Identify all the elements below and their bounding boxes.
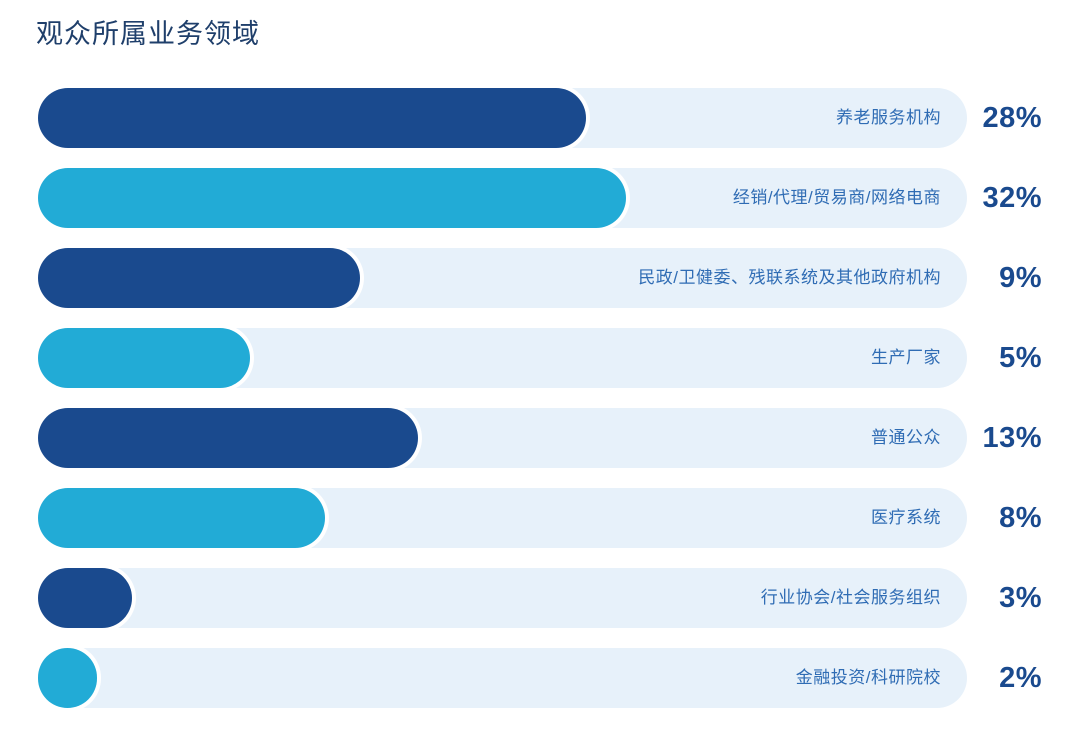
bar-row: 医疗系统 8% (0, 488, 1080, 568)
bar-fill (38, 488, 325, 548)
bar-row: 经销/代理/贸易商/网络电商 32% (0, 168, 1080, 248)
bar-fill (38, 328, 250, 388)
bar-value-label: 9% (999, 248, 1042, 308)
bar-value-label: 13% (982, 408, 1042, 468)
bar-value-label: 8% (999, 488, 1042, 548)
bar-row: 养老服务机构 28% (0, 88, 1080, 168)
bar-row: 金融投资/科研院校 2% (0, 648, 1080, 728)
bar-category-label: 生产厂家 (871, 328, 941, 388)
bar-category-label: 行业协会/社会服务组织 (761, 568, 941, 628)
chart-container: 观众所属业务领域 养老服务机构 28% 经销/代理/贸易商/网络电商 32% 民… (0, 0, 1080, 730)
bar-category-label: 金融投资/科研院校 (796, 648, 941, 708)
bar-value-label: 5% (999, 328, 1042, 388)
bar-fill (38, 408, 418, 468)
bar-fill (38, 648, 97, 708)
bar-value-label: 32% (982, 168, 1042, 228)
bar-category-label: 养老服务机构 (836, 88, 941, 148)
bar-value-label: 2% (999, 648, 1042, 708)
bar-category-label: 医疗系统 (871, 488, 941, 548)
bar-fill (38, 88, 586, 148)
bar-fill (38, 248, 360, 308)
bar-fill (38, 168, 626, 228)
bar-row: 民政/卫健委、残联系统及其他政府机构 9% (0, 248, 1080, 328)
chart-title: 观众所属业务领域 (36, 17, 260, 51)
bar-category-label: 民政/卫健委、残联系统及其他政府机构 (638, 248, 941, 308)
bar-fill (38, 568, 132, 628)
bar-row: 生产厂家 5% (0, 328, 1080, 408)
bar-value-label: 28% (982, 88, 1042, 148)
bar-category-label: 普通公众 (871, 408, 941, 468)
bar-value-label: 3% (999, 568, 1042, 628)
bar-row: 普通公众 13% (0, 408, 1080, 488)
bar-row: 行业协会/社会服务组织 3% (0, 568, 1080, 648)
bar-category-label: 经销/代理/贸易商/网络电商 (733, 168, 941, 228)
bar-rows-group: 养老服务机构 28% 经销/代理/贸易商/网络电商 32% 民政/卫健委、残联系… (0, 88, 1080, 728)
